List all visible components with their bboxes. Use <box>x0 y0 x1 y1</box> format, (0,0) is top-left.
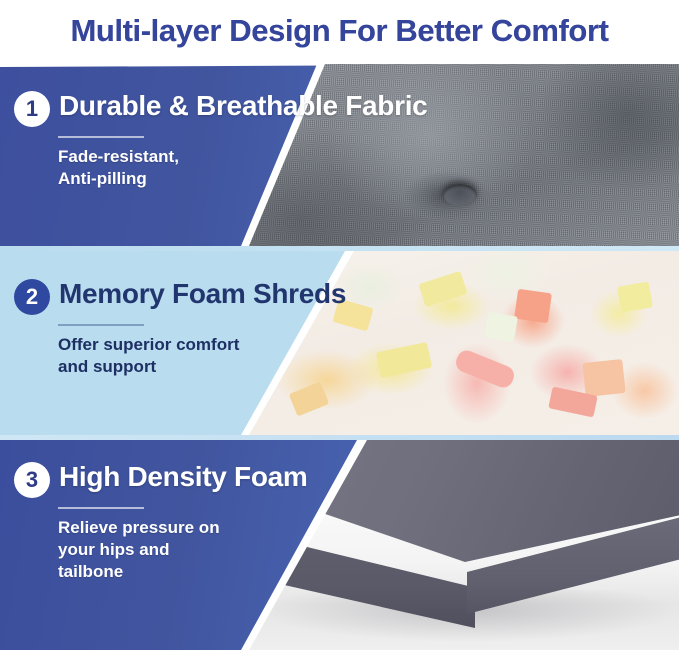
foam-shred <box>514 289 552 323</box>
foam-shred <box>453 347 517 390</box>
page-title-bar: Multi-layer Design For Better Comfort <box>0 0 679 62</box>
foam-shred <box>617 282 653 313</box>
panel-1-divider <box>58 136 144 138</box>
layer-description-1: Fade-resistant, Anti-pilling <box>58 146 427 190</box>
layer-description-2: Offer superior comfort and support <box>58 334 346 378</box>
tuft-button-dimple <box>443 184 477 206</box>
page-title: Multi-layer Design For Better Comfort <box>70 13 608 49</box>
panel-3-content: 3 High Density Foam Relieve pressure on … <box>0 440 308 650</box>
foam-shred <box>583 359 626 397</box>
foam-shred <box>483 311 517 342</box>
layer-number-badge-2: 2 <box>14 279 50 315</box>
layer-number-badge-3: 3 <box>14 462 50 498</box>
layer-description-1-line-2: Anti-pilling <box>58 168 427 190</box>
layer-panel-3: 3 High Density Foam Relieve pressure on … <box>0 440 679 650</box>
layer-description-2-line-1: Offer superior comfort <box>58 334 346 356</box>
layer-description-1-line-1: Fade-resistant, <box>58 146 427 168</box>
layer-description-3-line-3: tailbone <box>58 561 308 583</box>
foam-shred <box>376 342 432 378</box>
panel-3-divider <box>58 507 144 509</box>
layer-description-3-line-2: your hips and <box>58 539 308 561</box>
layer-heading-2: Memory Foam Shreds <box>59 279 346 309</box>
layer-description-2-line-2: and support <box>58 356 346 378</box>
panel-2-heading-row: 2 Memory Foam Shreds <box>14 279 346 315</box>
layer-description-3-line-1: Relieve pressure on <box>58 517 308 539</box>
layer-number-badge-1: 1 <box>14 91 50 127</box>
panel-1-content: 1 Durable & Breathable Fabric Fade-resis… <box>0 64 427 246</box>
panel-1-heading-row: 1 Durable & Breathable Fabric <box>14 91 427 127</box>
layer-panel-2: 2 Memory Foam Shreds Offer superior comf… <box>0 251 679 435</box>
foam-shred <box>418 271 467 307</box>
layer-description-3: Relieve pressure on your hips and tailbo… <box>58 517 308 582</box>
layer-panel-1: 1 Durable & Breathable Fabric Fade-resis… <box>0 64 679 246</box>
layer-heading-3: High Density Foam <box>59 462 308 492</box>
panel-3-heading-row: 3 High Density Foam <box>14 462 308 498</box>
panel-2-divider <box>58 324 144 326</box>
layer-heading-1: Durable & Breathable Fabric <box>59 91 427 121</box>
panel-2-content: 2 Memory Foam Shreds Offer superior comf… <box>0 251 346 435</box>
